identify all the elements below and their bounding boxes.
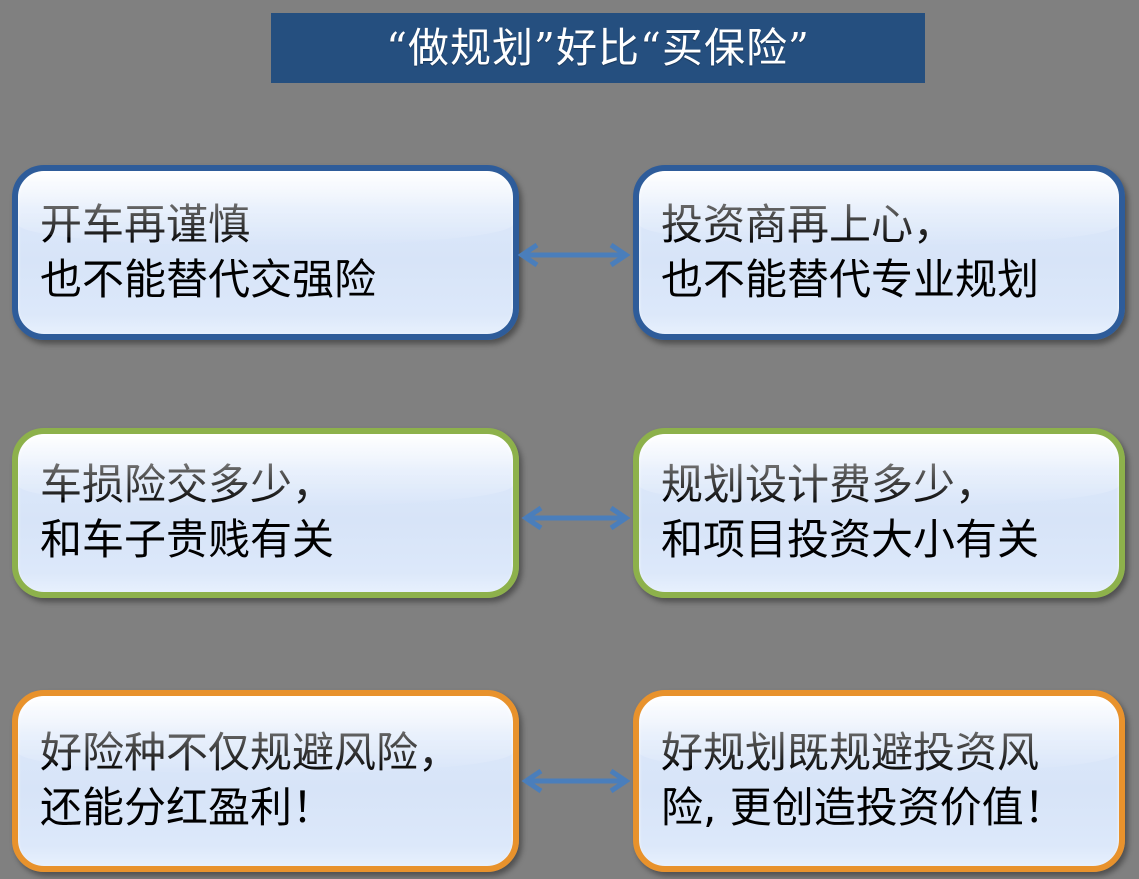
box-line-1: 好规划既规避投资风 bbox=[661, 726, 1109, 781]
box-text-container: 开车再谨慎 也不能替代交强险 bbox=[18, 198, 513, 307]
box-line-2: 和项目投资大小有关 bbox=[661, 513, 1109, 568]
box-line-1: 开车再谨慎 bbox=[40, 198, 503, 253]
comparison-box-row1-right[interactable]: 投资商再上心， 也不能替代专业规划 bbox=[633, 165, 1125, 340]
comparison-box-row3-right[interactable]: 好规划既规避投资风 险, 更创造投资价值！ bbox=[633, 690, 1125, 872]
box-line-2: 还能分红盈利！ bbox=[40, 781, 503, 836]
box-text-container: 规划设计费多少， 和项目投资大小有关 bbox=[639, 458, 1119, 567]
double-arrow-row1 bbox=[513, 242, 635, 268]
box-line-1: 好险种不仅规避风险， bbox=[40, 726, 503, 781]
comparison-box-row2-left[interactable]: 车损险交多少， 和车子贵贱有关 bbox=[12, 428, 519, 598]
box-line-1: 投资商再上心， bbox=[661, 198, 1109, 253]
box-line-2: 也不能替代交强险 bbox=[40, 253, 503, 308]
box-text-container: 投资商再上心， 也不能替代专业规划 bbox=[639, 198, 1119, 307]
box-text-container: 好险种不仅规避风险， 还能分红盈利！ bbox=[18, 726, 513, 835]
box-line-1: 规划设计费多少， bbox=[661, 458, 1109, 513]
box-line-2: 险, 更创造投资价值！ bbox=[661, 781, 1109, 836]
double-arrow-row2 bbox=[517, 505, 635, 531]
box-line-2: 也不能替代专业规划 bbox=[661, 253, 1109, 308]
box-text-container: 车损险交多少， 和车子贵贱有关 bbox=[18, 458, 513, 567]
comparison-box-row1-left[interactable]: 开车再谨慎 也不能替代交强险 bbox=[12, 165, 519, 340]
slide-canvas: “做规划”好比“买保险” 开车再谨慎 也不能替代交强险 投资商再上心， 也不能替… bbox=[0, 0, 1139, 879]
double-arrow-row3 bbox=[517, 768, 635, 794]
box-line-2: 和车子贵贱有关 bbox=[40, 513, 503, 568]
box-line-1: 车损险交多少， bbox=[40, 458, 503, 513]
box-text-container: 好规划既规避投资风 险, 更创造投资价值！ bbox=[639, 726, 1119, 835]
slide-title-text: “做规划”好比“买保险” bbox=[386, 28, 810, 69]
comparison-box-row3-left[interactable]: 好险种不仅规避风险， 还能分红盈利！ bbox=[12, 690, 519, 872]
comparison-box-row2-right[interactable]: 规划设计费多少， 和项目投资大小有关 bbox=[633, 428, 1125, 598]
slide-title-banner: “做规划”好比“买保险” bbox=[271, 13, 925, 83]
